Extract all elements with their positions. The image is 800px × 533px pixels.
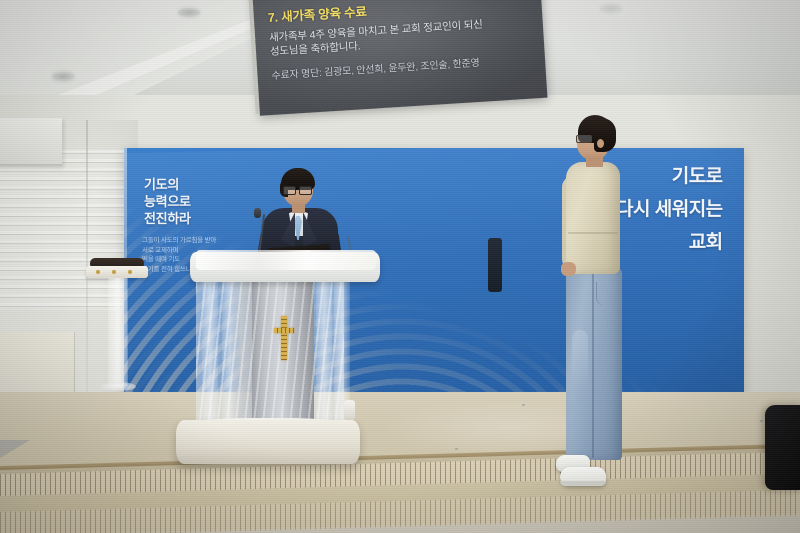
glasses-icon xyxy=(576,135,592,143)
cross-icon xyxy=(274,316,294,360)
man-jeans-pocket xyxy=(596,282,617,306)
projection-screen: 7. 새가족 양육 수료 새가족부 4주 양육을 마치고 본 교회 정교인이 되… xyxy=(252,0,547,116)
pulpit-side-knob xyxy=(344,400,355,420)
sanctuary-photo: 7. 새가족 양육 수료 새가족부 4주 양육을 마치고 본 교회 정교인이 되… xyxy=(0,0,800,533)
microphone-icon xyxy=(254,208,261,218)
dark-object-behind-pulpit xyxy=(488,238,502,292)
banner-headline-line-2: 능력으로 xyxy=(144,193,191,210)
side-table-gold-trim xyxy=(128,270,132,274)
banner-right-line-3: 교회 xyxy=(616,226,723,259)
glasses-icon xyxy=(283,186,312,193)
man-jeans-seam xyxy=(592,272,594,458)
floor-speck xyxy=(760,420,763,422)
side-table-foot xyxy=(100,382,136,391)
side-table-gold-trim xyxy=(96,270,100,274)
pulpit-desktop-items xyxy=(196,250,376,270)
side-table-stem xyxy=(108,278,128,386)
ceiling-soffit xyxy=(0,118,62,166)
man-sweater xyxy=(566,162,620,274)
man-hand xyxy=(561,262,576,276)
side-table-gold-trim xyxy=(112,270,116,274)
man-jeans-fade xyxy=(572,330,588,390)
floor-speck xyxy=(522,404,525,406)
black-bag xyxy=(765,405,800,490)
pulpit-base xyxy=(176,420,360,464)
downlight-icon xyxy=(178,8,200,17)
man-sweater-fold xyxy=(568,232,618,234)
man-ear xyxy=(597,139,604,148)
man-shoe-sole xyxy=(560,481,606,486)
banner-headline: 기도의 능력으로 전진하라 xyxy=(144,176,191,227)
floor-speck xyxy=(455,448,458,450)
banner-right-line-1: 기도로 xyxy=(616,160,723,193)
cross-horizontal xyxy=(274,328,294,333)
banner-right-line-2: 다시 세워지는 xyxy=(616,193,723,226)
banner-right-text: 기도로 다시 세워지는 교회 xyxy=(616,160,723,259)
downlight-icon xyxy=(52,72,74,81)
cross-vertical xyxy=(281,316,287,360)
slide-roster: 수료자 명단: 김광모, 안선희, 윤두완, 조인술, 한준영 xyxy=(271,53,537,83)
pulpit-acrylic-rods xyxy=(196,276,344,430)
banner-subtext-line-1: 그들이 사도의 가르침을 받아 xyxy=(142,236,252,246)
banner-headline-line-1: 기도의 xyxy=(144,176,191,193)
downlight-icon xyxy=(600,4,622,13)
slide-content: 7. 새가족 양육 수료 새가족부 4주 양육을 마치고 본 교회 정교인이 되… xyxy=(267,0,537,83)
banner-headline-line-3: 전진하라 xyxy=(144,210,191,227)
